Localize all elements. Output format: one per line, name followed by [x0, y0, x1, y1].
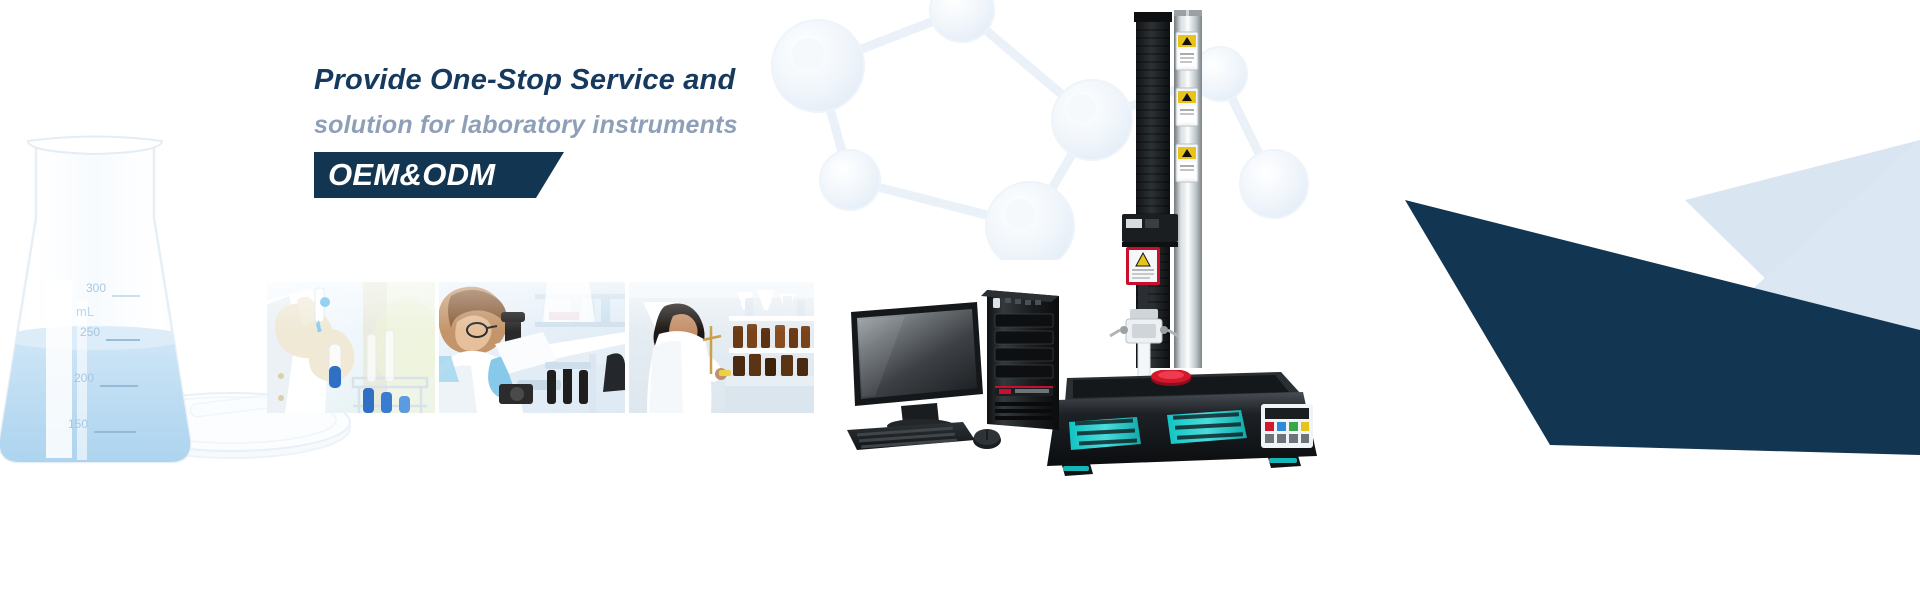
desktop-computer-set [845, 290, 1075, 455]
headline-line-2: solution for laboratory instruments [314, 102, 934, 148]
svg-text:150: 150 [68, 417, 88, 431]
dark-arrow-shape [1405, 200, 1920, 455]
testing-machine-base [1045, 370, 1325, 480]
photo-pipetting [267, 282, 435, 413]
badge-label: OEM&ODM [328, 152, 495, 198]
svg-text:200: 200 [74, 371, 94, 385]
light-arrow-shape-2 [1740, 140, 1920, 430]
svg-text:mL: mL [76, 304, 94, 319]
flask-body [0, 137, 204, 479]
pipette-rack [545, 362, 591, 404]
control-panel [1261, 404, 1313, 448]
mouse [973, 429, 1001, 449]
lcd-monitor [851, 302, 983, 433]
light-arrow-shape [1685, 140, 1920, 430]
svg-text:300: 300 [86, 281, 106, 295]
emergency-stop-button [1151, 370, 1191, 386]
warning-label-group [1176, 32, 1198, 182]
hero-banner: 300 250 200 150 mL Provide One-Stop Serv… [0, 0, 1920, 597]
load-cell [1126, 247, 1160, 285]
photo-lab-bench [629, 282, 814, 413]
headline-line-1: Provide One-Stop Service and [314, 58, 934, 102]
svg-text:250: 250 [80, 325, 100, 339]
pc-tower [981, 290, 1059, 430]
headline-block: Provide One-Stop Service and solution fo… [314, 58, 934, 198]
photo-microscope [439, 282, 625, 413]
oem-odm-badge: OEM&ODM [314, 152, 564, 198]
crosshead [1122, 214, 1178, 247]
product-cluster [845, 10, 1325, 470]
photo-strip [267, 282, 814, 413]
keyboard [847, 422, 975, 450]
